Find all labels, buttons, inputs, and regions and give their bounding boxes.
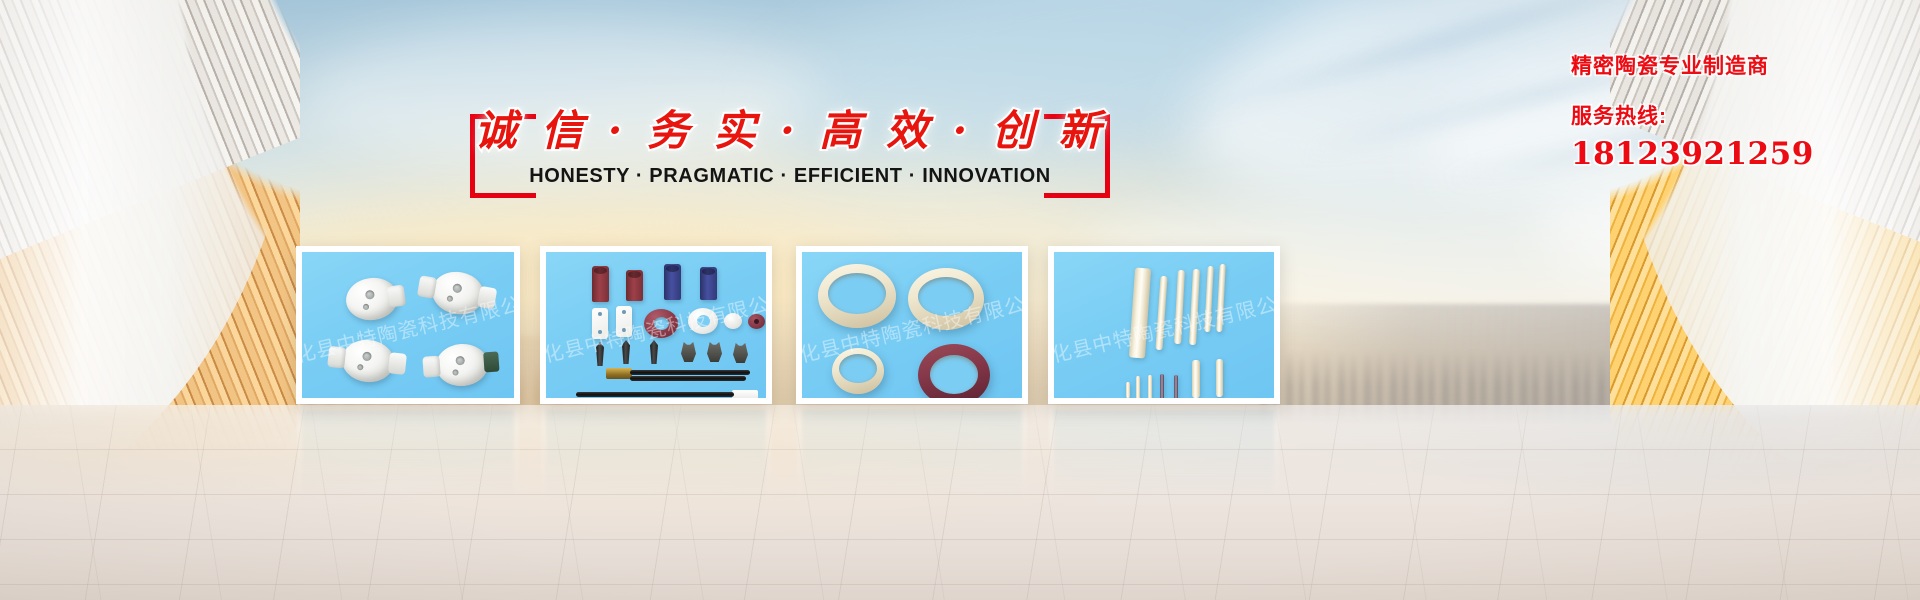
ceramic-plate <box>592 308 608 339</box>
hero-banner: 诚 信 · 务 实 · 高 效 · 创 新 HONESTY · PRAGMATI… <box>0 0 1920 600</box>
ceramic-ring-white <box>688 308 718 334</box>
architecture-structure-left <box>0 0 300 450</box>
ceramic-ring-large-ivory <box>908 268 984 330</box>
ceramic-ring-large-ivory <box>818 264 896 328</box>
bracket-left-bottom <box>470 193 536 198</box>
ceramic-tube-red <box>626 270 643 301</box>
ceramic-tube-blue <box>664 264 681 300</box>
metal-pin <box>650 340 658 364</box>
product-panel-inner: 新化县中特陶瓷科技有限公司 <box>546 252 766 398</box>
ceramic-ring-maroon <box>918 344 990 398</box>
ceramic-pin <box>1148 375 1152 398</box>
cable-lead <box>630 376 746 381</box>
product-panel-lamp-holders[interactable]: 新化县中特陶瓷科技有限公司 <box>296 246 520 404</box>
metal-clip <box>681 342 696 362</box>
ceramic-lamp-holder <box>435 342 490 388</box>
ceramic-ring-small-ivory <box>832 348 884 394</box>
ceramic-rod <box>1155 276 1167 350</box>
hotline-phone-number[interactable]: 18123921259 <box>1571 136 1901 172</box>
floor-sheen <box>0 405 1920 600</box>
bracket-right-bottom <box>1044 193 1110 198</box>
metal-pin <box>596 342 604 366</box>
ceramic-rod <box>1174 270 1185 344</box>
ceramic-cap-white <box>724 313 742 329</box>
ceramic-plate <box>616 306 632 337</box>
ceramic-pin <box>1136 376 1140 398</box>
ceramic-ring-maroon <box>644 309 678 338</box>
ceramic-rod <box>1216 264 1226 332</box>
cable-lead <box>576 392 734 397</box>
metal-pin <box>622 340 630 364</box>
ceramic-lamp-holder <box>343 275 400 324</box>
product-panel-inner: 新化县中特陶瓷科技有限公司 <box>302 252 514 398</box>
company-tagline: 精密陶瓷专业制造商 <box>1571 50 1901 80</box>
contact-block: 精密陶瓷专业制造商 服务热线: 18123921259 <box>1571 50 1901 172</box>
product-panel-rods[interactable]: 新化县中特陶瓷科技有限公司 <box>1048 246 1280 404</box>
metal-clip <box>707 342 722 362</box>
product-panel-rings[interactable]: 新化县中特陶瓷科技有限公司 <box>796 246 1028 404</box>
product-panel-components[interactable]: 新化县中特陶瓷科技有限公司 <box>540 246 772 404</box>
slogan-block: 诚 信 · 务 实 · 高 效 · 创 新 HONESTY · PRAGMATI… <box>470 105 1110 205</box>
product-panel-inner: 新化县中特陶瓷科技有限公司 <box>802 252 1022 398</box>
ceramic-rod <box>1189 269 1200 345</box>
metal-clip <box>733 343 748 363</box>
cable-connector-white <box>732 390 758 398</box>
slogan-chinese: 诚 信 · 务 实 · 高 效 · 创 新 <box>470 97 1110 158</box>
ceramic-tube-short <box>1192 360 1200 398</box>
product-panel-inner: 新化县中特陶瓷科技有限公司 <box>1054 252 1274 398</box>
ceramic-pin <box>1126 382 1130 398</box>
ceramic-pin-dark <box>1160 374 1164 398</box>
slogan-english: HONESTY · PRAGMATIC · EFFICIENT · INNOVA… <box>470 165 1110 188</box>
ceramic-lamp-holder <box>429 268 488 318</box>
ceramic-cap-maroon <box>748 314 765 329</box>
cable-lead <box>630 370 750 375</box>
ceramic-tube-short <box>1216 359 1223 397</box>
ceramic-lamp-holder <box>340 337 396 384</box>
ceramic-rod-thick <box>1129 268 1151 359</box>
ceramic-pin-dark <box>1174 375 1178 398</box>
hotline-label: 服务热线: <box>1571 100 1901 130</box>
ceramic-tube-blue <box>700 267 717 300</box>
ceramic-tube-red <box>592 266 609 302</box>
cable-connector-gold <box>606 368 632 379</box>
ceramic-rod <box>1204 266 1213 332</box>
